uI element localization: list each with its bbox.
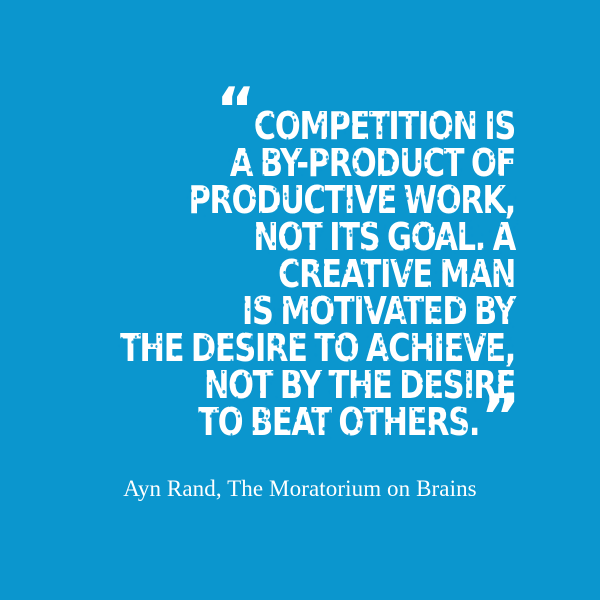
quote-line: “COMPETITION IS — [103, 108, 515, 145]
quote-line: A BY-PRODUCT OF — [103, 145, 515, 182]
quote-line: NOT BY THE DESIRE — [103, 367, 515, 404]
quote-line: THE DESIRE TO ACHIEVE, — [103, 330, 515, 367]
quote-line: NOT ITS GOAL. A — [103, 219, 515, 256]
quote-line-text: IS MOTIVATED BY — [242, 293, 515, 330]
quote-line-text: A BY-PRODUCT OF — [230, 145, 515, 182]
quote-text-block: “COMPETITION IS A BY-PRODUCT OF PRODUCTI… — [0, 108, 600, 441]
quote-line: IS MOTIVATED BY — [103, 293, 515, 330]
quote-line-text: COMPETITION IS — [254, 108, 515, 145]
quote-line-text: NOT BY THE DESIRE — [204, 367, 515, 404]
quote-line: TO BEAT OTHERS.” — [103, 404, 515, 441]
quote-line: PRODUCTIVE WORK, — [103, 182, 515, 219]
quote-attribution: Ayn Rand, The Moratorium on Brains — [0, 476, 600, 502]
quote-line-text: PRODUCTIVE WORK, — [189, 182, 516, 219]
quote-line-text: NOT ITS GOAL. A — [253, 219, 515, 256]
quote-card: “COMPETITION IS A BY-PRODUCT OF PRODUCTI… — [0, 0, 600, 600]
quote-line-text: CREATIVE MAN — [278, 256, 515, 293]
quote-line-text: TO BEAT OTHERS. — [198, 404, 479, 441]
quote-line: CREATIVE MAN — [103, 256, 515, 293]
quote-line-text: THE DESIRE TO ACHIEVE, — [120, 330, 515, 367]
